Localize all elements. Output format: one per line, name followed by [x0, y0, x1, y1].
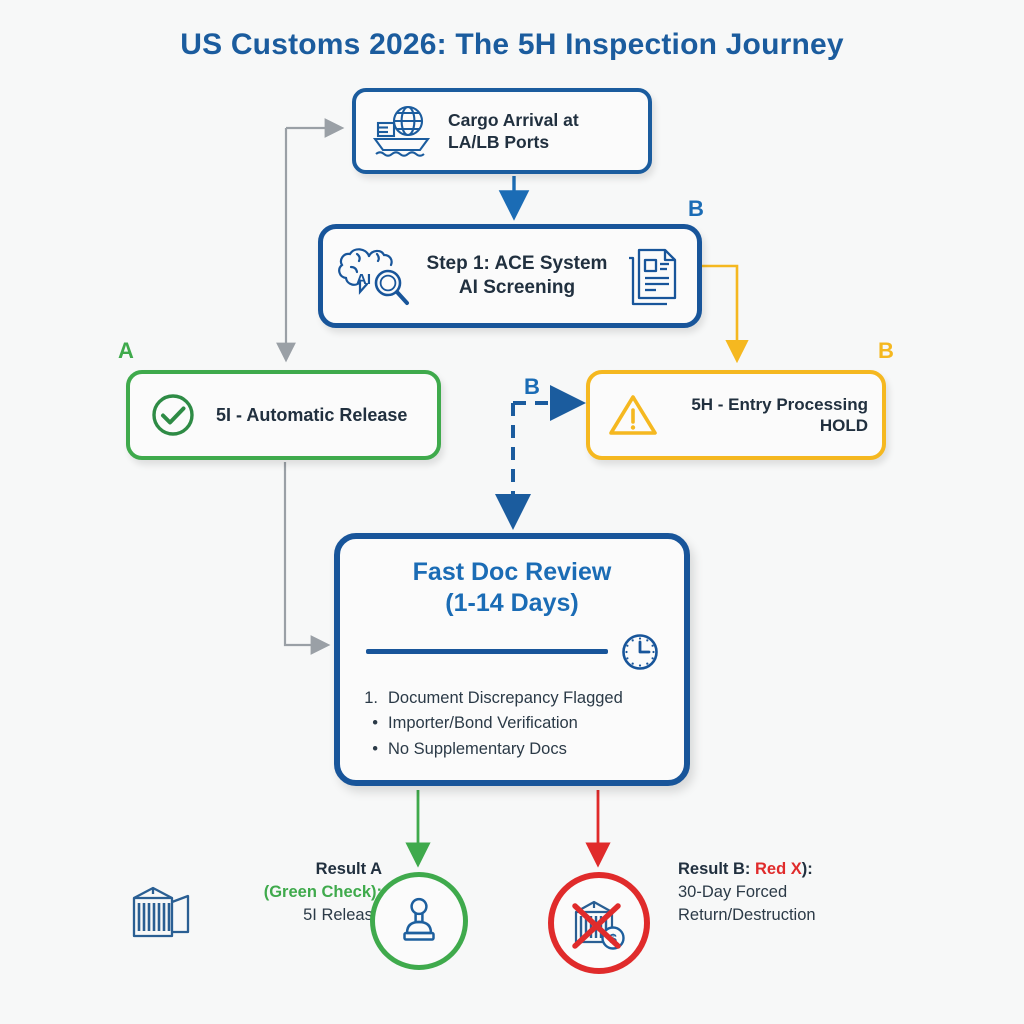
rubber-stamp-icon	[391, 893, 447, 949]
review-item-list: 1. Document Discrepancy Flagged • Import…	[360, 686, 664, 763]
list-item-text: No Supplementary Docs	[388, 737, 567, 763]
node-automatic-release[interactable]: 5I - Automatic Release	[126, 370, 441, 460]
list-item: • No Supplementary Docs	[360, 737, 664, 763]
node-release-label: 5I - Automatic Release	[216, 404, 407, 427]
result-a-line2: (Green Check):	[264, 883, 382, 901]
node-hold-label-line2: HOLD	[672, 415, 868, 436]
page-title: US Customs 2026: The 5H Inspection Journ…	[0, 28, 1024, 62]
result-a-text: Result A (Green Check): 5I Release	[232, 858, 382, 926]
node-entry-processing-hold[interactable]: 5H - Entry Processing HOLD	[586, 370, 886, 460]
branch-label-b-top: B	[688, 196, 704, 222]
node-cargo-label: Cargo Arrival at LA/LB Ports	[448, 109, 579, 153]
review-divider	[366, 649, 608, 654]
connector-ace-to-hold	[702, 266, 737, 358]
node-ace-label: Step 1: ACE System AI Screening	[419, 252, 615, 300]
node-cargo-label-line1: Cargo Arrival at	[448, 109, 579, 131]
branch-label-a: A	[118, 338, 134, 364]
result-b-line3: Return/Destruction	[678, 906, 816, 924]
review-title-line1: Fast Doc Review	[360, 557, 664, 588]
node-hold-label-line1: 5H - Entry Processing	[672, 394, 868, 415]
result-b-line1-bold: Result B:	[678, 860, 755, 878]
result-b-line1-red: Red X	[755, 860, 802, 878]
list-item-text: Importer/Bond Verification	[388, 711, 578, 737]
result-b-text: Result B: Red X): 30-Day Forced Return/D…	[678, 858, 898, 926]
node-ace-screening[interactable]: AI Step 1: ACE System AI Screening	[318, 224, 702, 328]
svg-text:AI: AI	[356, 271, 371, 288]
review-divider-row	[360, 628, 664, 676]
list-item: 1. Document Discrepancy Flagged	[360, 686, 664, 712]
result-a-line1: Result A	[316, 860, 382, 878]
shipping-container-icon	[128, 882, 212, 948]
node-hold-label: 5H - Entry Processing HOLD	[672, 394, 868, 437]
card-fast-doc-review[interactable]: Fast Doc Review (1-14 Days) 1.	[334, 533, 690, 786]
review-title-line2: (1-14 Days)	[360, 588, 664, 619]
node-cargo-arrival[interactable]: Cargo Arrival at LA/LB Ports	[352, 88, 652, 174]
review-title: Fast Doc Review (1-14 Days)	[360, 557, 664, 620]
cargo-ship-globe-icon	[370, 103, 436, 159]
ai-brain-magnifier-icon: AI	[335, 240, 413, 312]
warning-triangle-icon	[604, 388, 662, 442]
node-ace-label-line1: Step 1: ACE System	[419, 252, 615, 276]
list-item-marker: 1.	[360, 686, 378, 712]
result-b-line1-tail: ):	[802, 860, 813, 878]
list-item-marker: •	[360, 711, 378, 737]
container-crossed-out-icon: $	[562, 886, 636, 960]
list-item-marker: •	[360, 737, 378, 763]
branch-label-b-mid: B	[524, 374, 540, 400]
documents-icon	[621, 242, 685, 310]
badge-result-a[interactable]	[370, 872, 468, 970]
connector-release-to-review	[285, 462, 326, 645]
result-b-line2: 30-Day Forced	[678, 883, 787, 901]
clock-icon	[616, 628, 664, 676]
badge-result-b[interactable]: $	[548, 872, 650, 974]
list-item: • Importer/Bond Verification	[360, 711, 664, 737]
node-cargo-label-line2: LA/LB Ports	[448, 131, 579, 153]
check-circle-icon	[148, 390, 198, 440]
list-item-text: Document Discrepancy Flagged	[388, 686, 623, 712]
node-ace-label-line2: AI Screening	[419, 276, 615, 300]
branch-label-b-right: B	[878, 338, 894, 364]
